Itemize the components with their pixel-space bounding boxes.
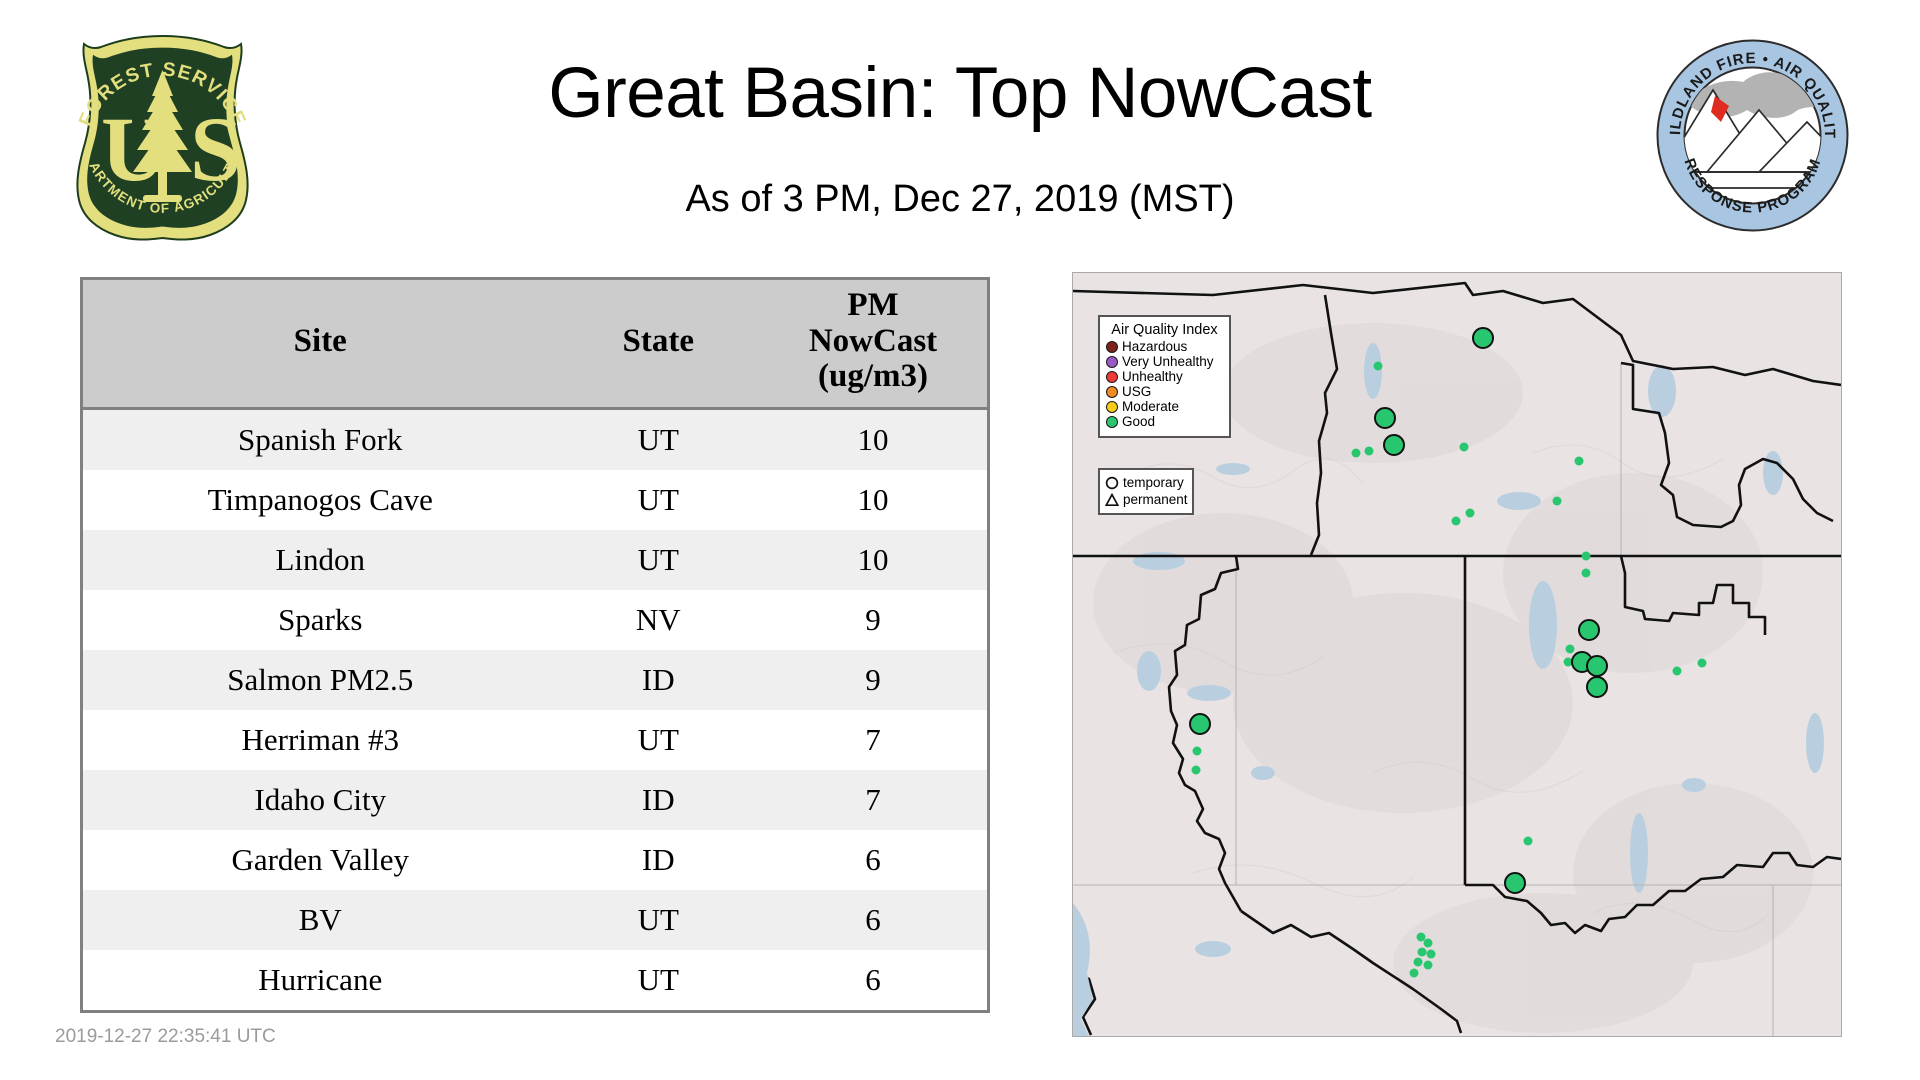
column-header-pm-line2: NowCast — [809, 323, 937, 359]
cell-site: BV — [83, 890, 558, 950]
table-row[interactable]: Idaho City ID 7 — [83, 770, 987, 830]
top-nowcast-table-container: Site State PM NowCast (ug/m3) Spanish Fo… — [80, 277, 990, 1013]
cell-site: Herriman #3 — [83, 710, 558, 770]
monitor-marker[interactable] — [1383, 434, 1405, 456]
circle-icon — [1105, 476, 1119, 490]
monitor-marker[interactable] — [1365, 447, 1374, 456]
monitor-marker[interactable] — [1586, 655, 1608, 677]
cell-site: Hurricane — [83, 950, 558, 1010]
cell-pm-nowcast: 9 — [759, 590, 987, 650]
monitor-marker[interactable] — [1578, 619, 1600, 641]
aqi-legend-item-hazardous: Hazardous — [1106, 340, 1223, 355]
monitor-marker[interactable] — [1424, 939, 1433, 948]
aqi-label-hazardous: Hazardous — [1122, 340, 1187, 354]
monitor-marker[interactable] — [1524, 837, 1533, 846]
cell-state: ID — [558, 770, 760, 830]
cell-site: Sparks — [83, 590, 558, 650]
aqi-legend: Air Quality Index Hazardous Very Unhealt… — [1098, 315, 1231, 438]
aqi-legend-item-usg: USG — [1106, 385, 1223, 400]
table-body: Spanish Fork UT 10 Timpanogos Cave UT 10… — [83, 408, 987, 1010]
aqi-legend-title: Air Quality Index — [1106, 322, 1223, 338]
forest-service-shield-logo: U S FOREST SERVICE DEPARTMENT OF AGRICUL… — [55, 30, 270, 245]
aqi-label-usg: USG — [1122, 385, 1151, 399]
monitor-marker[interactable] — [1673, 667, 1682, 676]
cell-pm-nowcast: 10 — [759, 408, 987, 470]
cell-site: Lindon — [83, 530, 558, 590]
cell-pm-nowcast: 6 — [759, 890, 987, 950]
monitor-marker[interactable] — [1460, 443, 1469, 452]
aqi-swatch-good — [1106, 416, 1118, 428]
table-row[interactable]: Salmon PM2.5 ID 9 — [83, 650, 987, 710]
table-header: Site State PM NowCast (ug/m3) — [83, 280, 987, 408]
monitor-marker[interactable] — [1575, 457, 1584, 466]
monitor-marker[interactable] — [1193, 747, 1202, 756]
monitor-marker[interactable] — [1566, 645, 1575, 654]
monitor-marker[interactable] — [1374, 362, 1383, 371]
great-basin-monitor-map[interactable]: Air Quality Index Hazardous Very Unhealt… — [1072, 272, 1842, 1037]
cell-site: Spanish Fork — [83, 408, 558, 470]
monitor-marker[interactable] — [1414, 958, 1423, 967]
cell-site: Idaho City — [83, 770, 558, 830]
column-header-state[interactable]: State — [558, 280, 760, 408]
aqi-legend-item-very-unhealthy: Very Unhealthy — [1106, 355, 1223, 370]
monitor-marker[interactable] — [1192, 766, 1201, 775]
wfaqrp-circular-logo: WILDLAND FIRE • AIR QUALITY RESPONSE PRO… — [1655, 38, 1850, 233]
table-row[interactable]: Garden Valley ID 6 — [83, 830, 987, 890]
cell-pm-nowcast: 10 — [759, 530, 987, 590]
legend-item-permanent: permanent — [1105, 492, 1187, 509]
top-nowcast-table: Site State PM NowCast (ug/m3) Spanish Fo… — [83, 280, 987, 1010]
cell-state: ID — [558, 830, 760, 890]
cell-state: UT — [558, 950, 760, 1010]
monitor-type-legend: temporary permanent — [1098, 468, 1194, 515]
table-row[interactable]: Timpanogos Cave UT 10 — [83, 470, 987, 530]
page-subtitle: As of 3 PM, Dec 27, 2019 (MST) — [300, 178, 1620, 221]
page-title: Great Basin: Top NowCast — [300, 58, 1620, 130]
cell-state: UT — [558, 408, 760, 470]
monitor-marker[interactable] — [1553, 497, 1562, 506]
aqi-swatch-hazardous — [1106, 341, 1118, 353]
monitor-marker[interactable] — [1352, 449, 1361, 458]
aqi-label-good: Good — [1122, 415, 1155, 429]
column-header-site[interactable]: Site — [83, 280, 558, 408]
cell-pm-nowcast: 6 — [759, 950, 987, 1010]
aqi-swatch-unhealthy — [1106, 371, 1118, 383]
cell-state: NV — [558, 590, 760, 650]
cell-state: UT — [558, 530, 760, 590]
cell-state: UT — [558, 710, 760, 770]
aqi-label-moderate: Moderate — [1122, 400, 1179, 414]
monitor-marker[interactable] — [1189, 713, 1211, 735]
cell-pm-nowcast: 7 — [759, 770, 987, 830]
aqi-legend-item-moderate: Moderate — [1106, 400, 1223, 415]
monitor-marker[interactable] — [1424, 961, 1433, 970]
generated-timestamp: 2019-12-27 22:35:41 UTC — [55, 1026, 276, 1048]
aqi-legend-item-unhealthy: Unhealthy — [1106, 370, 1223, 385]
aqi-swatch-very-unhealthy — [1106, 356, 1118, 368]
monitor-marker[interactable] — [1410, 969, 1419, 978]
cell-state: UT — [558, 470, 760, 530]
table-header-row: Site State PM NowCast (ug/m3) — [83, 280, 987, 408]
legend-item-temporary: temporary — [1105, 474, 1187, 491]
aqi-label-unhealthy: Unhealthy — [1122, 370, 1183, 384]
monitor-marker[interactable] — [1466, 509, 1475, 518]
legend-label-temporary: temporary — [1123, 476, 1184, 490]
legend-label-permanent: permanent — [1123, 493, 1188, 507]
aqi-swatch-usg — [1106, 386, 1118, 398]
table-row[interactable]: Spanish Fork UT 10 — [83, 408, 987, 470]
monitor-marker[interactable] — [1586, 676, 1608, 698]
table-row[interactable]: Lindon UT 10 — [83, 530, 987, 590]
aqi-legend-item-good: Good — [1106, 415, 1223, 430]
monitor-marker[interactable] — [1427, 950, 1436, 959]
monitor-marker[interactable] — [1504, 872, 1526, 894]
column-header-pm-nowcast[interactable]: PM NowCast (ug/m3) — [759, 280, 987, 408]
cell-site: Timpanogos Cave — [83, 470, 558, 530]
aqi-swatch-moderate — [1106, 401, 1118, 413]
monitor-marker[interactable] — [1698, 659, 1707, 668]
column-header-pm-line1: PM — [847, 287, 898, 323]
table-row[interactable]: Herriman #3 UT 7 — [83, 710, 987, 770]
monitor-marker[interactable] — [1582, 569, 1591, 578]
cell-state: ID — [558, 650, 760, 710]
table-row[interactable]: BV UT 6 — [83, 890, 987, 950]
cell-pm-nowcast: 10 — [759, 470, 987, 530]
monitor-marker[interactable] — [1374, 407, 1396, 429]
table-row[interactable]: Sparks NV 9 — [83, 590, 987, 650]
column-header-site-label: Site — [294, 323, 347, 359]
column-header-pm-line3: (ug/m3) — [818, 358, 928, 394]
monitor-marker[interactable] — [1472, 327, 1494, 349]
monitor-marker[interactable] — [1452, 517, 1461, 526]
aqi-label-very-unhealthy: Very Unhealthy — [1122, 355, 1214, 369]
monitor-marker[interactable] — [1418, 948, 1427, 957]
triangle-icon — [1105, 493, 1119, 507]
column-header-state-label: State — [623, 323, 694, 359]
table-row[interactable]: Hurricane UT 6 — [83, 950, 987, 1010]
cell-site: Garden Valley — [83, 830, 558, 890]
cell-state: UT — [558, 890, 760, 950]
monitor-marker[interactable] — [1582, 552, 1591, 561]
cell-pm-nowcast: 6 — [759, 830, 987, 890]
cell-pm-nowcast: 9 — [759, 650, 987, 710]
cell-pm-nowcast: 7 — [759, 710, 987, 770]
cell-site: Salmon PM2.5 — [83, 650, 558, 710]
